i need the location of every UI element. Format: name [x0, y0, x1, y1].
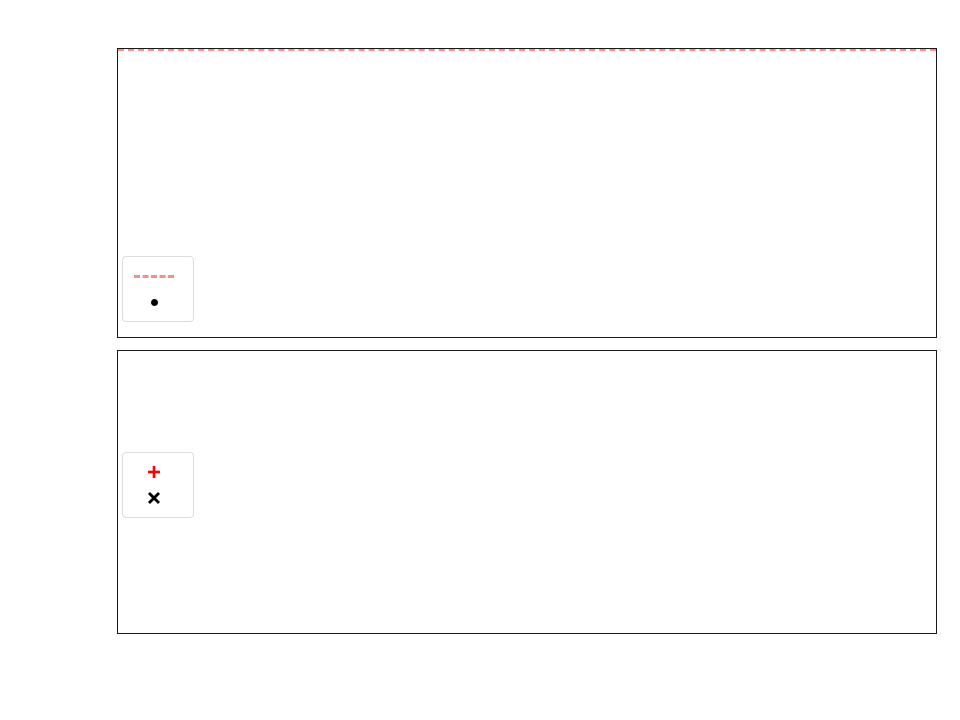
top-panel-data-layer	[118, 49, 936, 337]
bottom-panel-data-layer	[118, 351, 936, 633]
plus-marker-icon	[131, 462, 177, 482]
x-marker-icon	[131, 488, 177, 508]
top-panel-legend	[122, 256, 194, 322]
legend-entry-predicted-stars	[131, 485, 183, 511]
dashed-line-icon	[131, 275, 177, 278]
legend-entry-measurements	[131, 289, 183, 315]
bottom-panel-axes	[117, 350, 937, 634]
legend-entry-matched-stars	[131, 459, 183, 485]
figure-canvas	[0, 0, 960, 720]
bottom-panel-legend	[122, 452, 194, 518]
top-panel-axes	[117, 48, 937, 338]
dot-marker-icon	[131, 299, 177, 306]
legend-entry-threshold	[131, 263, 183, 289]
